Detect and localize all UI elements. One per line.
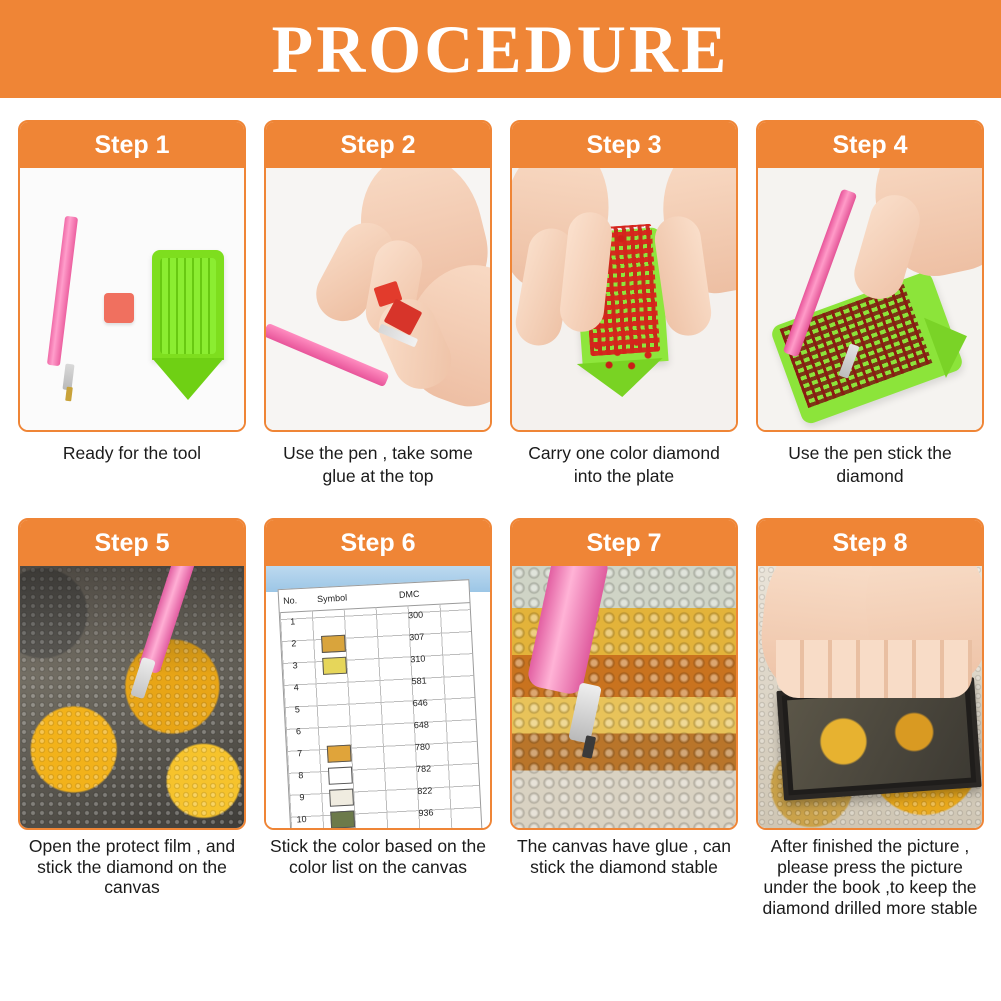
table-cell-no: 10 [296,814,307,825]
color-chart-grid [280,602,482,828]
tray-spout-icon [152,358,224,400]
step-label-2: Step 2 [266,122,490,168]
step-card-7: Step 7 [510,518,738,830]
table-cell-no: 4 [293,682,299,692]
step-card-4: Step 4 [756,120,984,432]
step-label-4: Step 4 [758,122,982,168]
step-cell-1: Step 1 Ready for the tool [18,120,246,512]
page-title: PROCEDURE [272,15,730,83]
color-swatch [327,745,352,763]
step-photo-2 [266,168,490,430]
step-caption-3: Carry one color diamond into the plate [512,442,736,512]
step-photo-1 [20,168,244,430]
color-swatch [328,767,353,785]
table-cell-dmc: 780 [415,741,431,752]
step-caption-5: Open the protect film , and stick the di… [20,836,244,906]
step-caption-8: After finished the picture , please pres… [758,836,982,919]
step-label-5: Step 5 [20,520,244,566]
step-label-7: Step 7 [512,520,736,566]
page-header-banner: PROCEDURE [0,0,1001,98]
table-cell-no: 1 [290,616,296,626]
table-cell-dmc: 300 [408,610,424,621]
color-swatch [322,657,347,675]
step-caption-2: Use the pen , take some glue at the top [266,442,490,512]
step-photo-3 [512,168,736,430]
step-cell-5: Step 5 Open the protect film , and stick… [18,518,246,919]
table-cell-no: 5 [295,704,301,714]
color-chart-col-symbol: Symbol [317,593,347,605]
table-cell-no: 6 [296,726,302,736]
step-photo-5 [20,566,244,828]
tray-grooves-icon [160,258,216,354]
red-diamonds-spill-icon [589,334,658,379]
table-cell-dmc: 310 [410,654,426,665]
color-chart-col-no: No. [283,595,298,606]
step-photo-4 [758,168,982,430]
step-caption-7: The canvas have glue , can stick the dia… [512,836,736,906]
table-cell-no: 7 [297,748,303,758]
step-label-8: Step 8 [758,520,982,566]
step-label-1: Step 1 [20,122,244,168]
step-photo-8 [758,566,982,828]
step-card-3: Step 3 [510,120,738,432]
step-card-5: Step 5 [18,518,246,830]
fingers-icon [776,640,972,698]
step-caption-4: Use the pen stick the diamond [758,442,982,512]
color-swatch [330,810,355,828]
step-caption-1: Ready for the tool [20,442,244,512]
color-swatch [329,789,354,807]
table-cell-dmc: 646 [412,697,428,708]
table-cell-no: 9 [299,792,305,802]
step-cell-6: Step 6 No. Symbol DMC 1 300 2 307 [264,518,492,919]
step-cell-8: Step 8 After finished the picture , plea… [756,518,984,919]
step-cell-3: Step 3 Carry one color diamond into the … [510,120,738,512]
table-cell-dmc: 581 [411,676,427,687]
steps-grid: Step 1 Ready for the tool Step 2 [0,98,1001,919]
step-label-3: Step 3 [512,122,736,168]
book-cover-art [787,688,971,790]
step-label-6: Step 6 [266,520,490,566]
step-photo-7 [512,566,736,828]
step-card-6: Step 6 No. Symbol DMC 1 300 2 307 [264,518,492,830]
table-cell-no: 8 [298,770,304,780]
step-card-1: Step 1 [18,120,246,432]
table-cell-dmc: 782 [416,763,432,774]
step-card-2: Step 2 [264,120,492,432]
color-chart-col-dmc: DMC [399,589,420,600]
table-cell-dmc: 307 [409,632,425,643]
table-cell-no: 3 [292,660,298,670]
step-cell-7: Step 7 The canvas have glue , can stick … [510,518,738,919]
glue-square-icon [104,293,134,323]
step-cell-2: Step 2 Use the pen , take some glue at t… [264,120,492,512]
table-cell-dmc: 936 [418,807,434,818]
table-cell-no: 2 [291,638,297,648]
step-caption-6: Stick the color based on the color list … [266,836,490,906]
color-chart-table: No. Symbol DMC 1 300 2 307 3 310 4 581 [278,579,483,828]
color-swatch [321,635,346,653]
shadow-overlay [20,566,244,676]
step-cell-4: Step 4 Use the pen stick the diamond [756,120,984,512]
step-photo-6: No. Symbol DMC 1 300 2 307 3 310 4 581 [266,566,490,828]
table-cell-dmc: 648 [414,719,430,730]
table-cell-dmc: 822 [417,785,433,796]
step-card-8: Step 8 [756,518,984,830]
